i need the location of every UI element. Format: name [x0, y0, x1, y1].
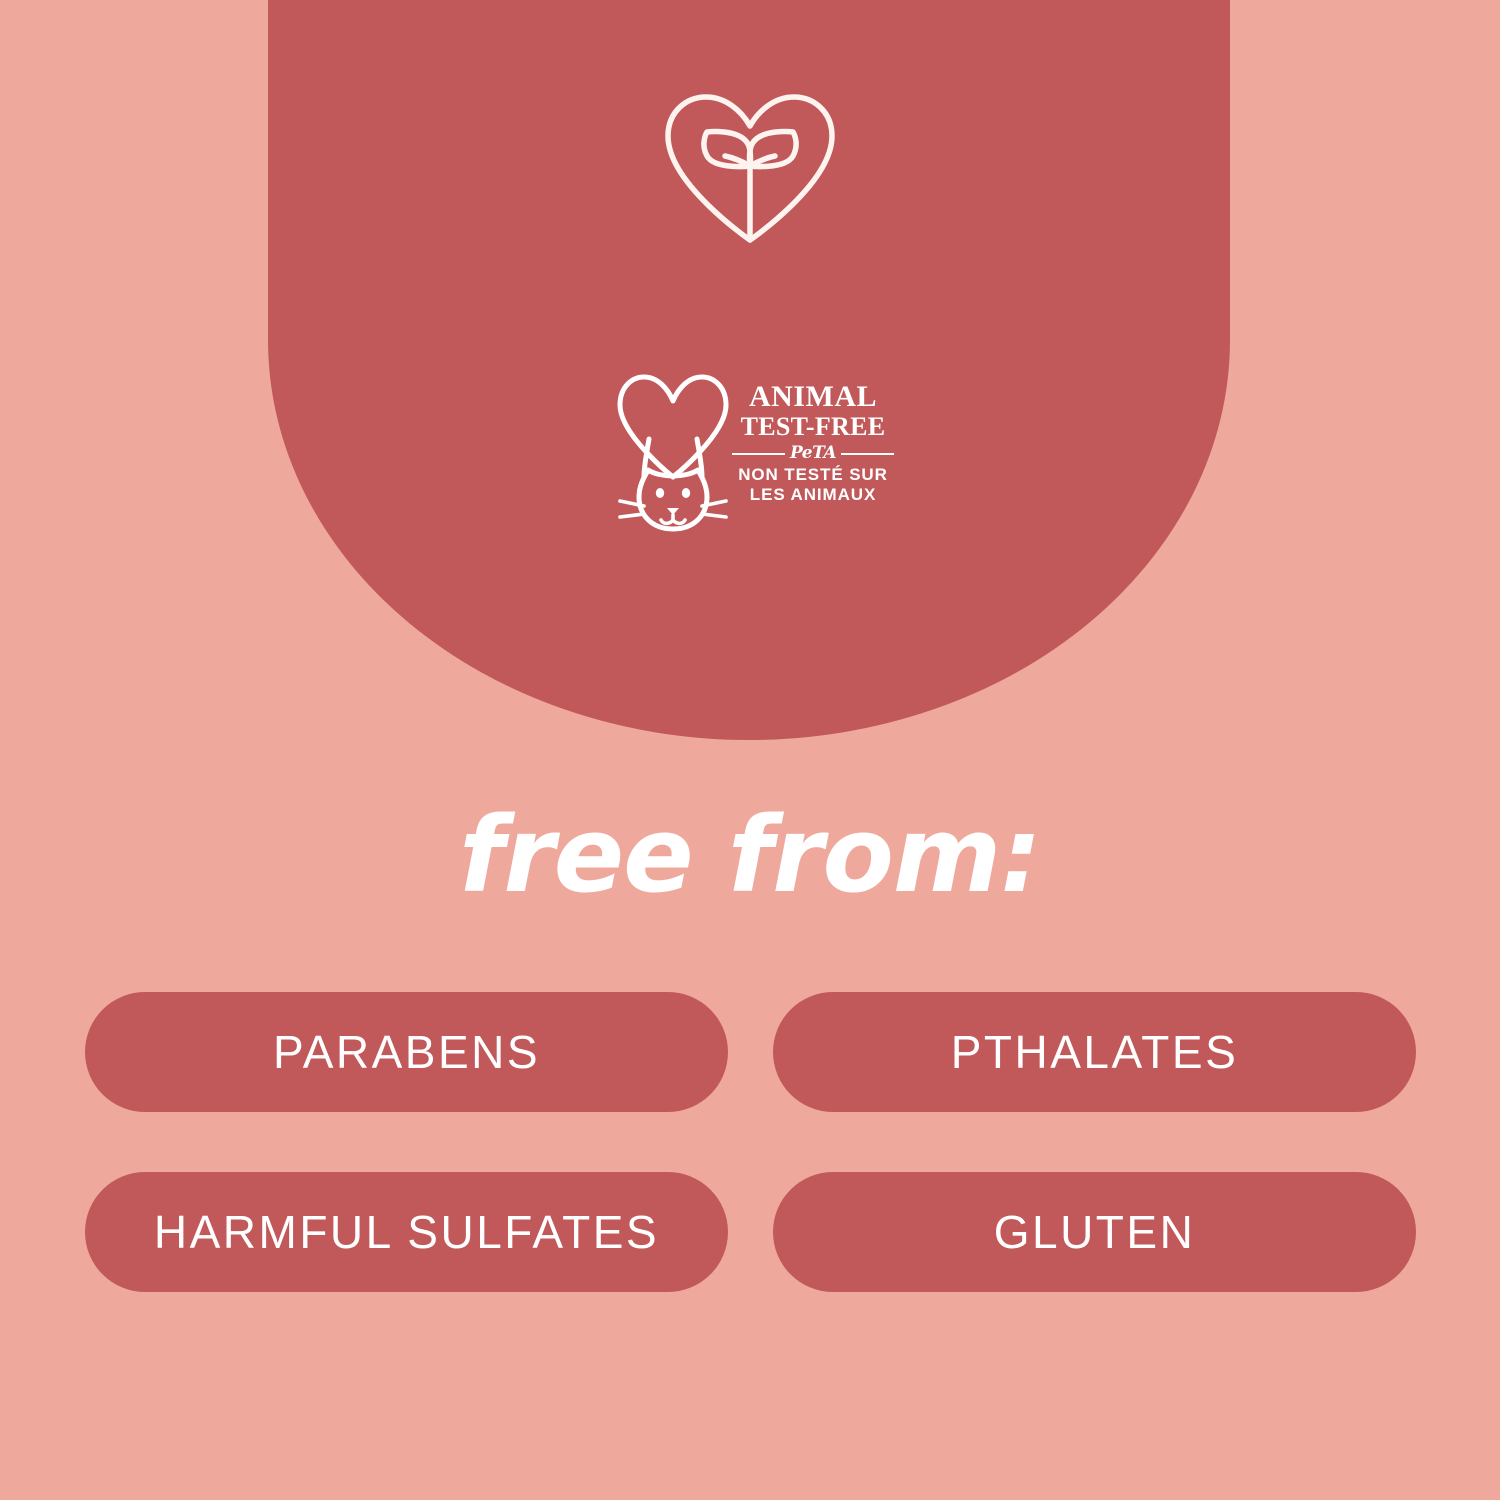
peta-line-french-1: NON TESTÉ SUR	[732, 465, 894, 485]
peta-brand-text: PeTA	[790, 445, 836, 462]
peta-line-animal: ANIMAL	[732, 381, 894, 412]
claim-label: HARMFUL SULFATES	[154, 1205, 659, 1259]
claim-label: PTHALATES	[951, 1025, 1239, 1079]
peta-line-french-2: LES ANIMAUX	[732, 485, 894, 505]
free-from-claims-panel: ANIMAL TEST-FREE PeTA NON TESTÉ SUR LES …	[0, 0, 1500, 1500]
peta-animal-test-free-logo: ANIMAL TEST-FREE PeTA NON TESTÉ SUR LES …	[614, 373, 894, 533]
page-title: free from:	[0, 800, 1500, 910]
heart-with-sprout-icon	[655, 88, 845, 248]
claim-pill-harmful-sulfates: HARMFUL SULFATES	[85, 1172, 728, 1292]
claim-pill-pthalates: PTHALATES	[773, 992, 1416, 1112]
peta-rule-left	[732, 453, 785, 455]
claim-label: GLUTEN	[994, 1205, 1196, 1259]
peta-rule-right	[841, 453, 894, 455]
peta-brand-row: PeTA	[732, 445, 894, 462]
peta-line-test-free: TEST-FREE	[732, 412, 894, 441]
claim-pill-parabens: PARABENS	[85, 992, 728, 1112]
claims-grid: PARABENS PTHALATES HARMFUL SULFATES GLUT…	[85, 992, 1416, 1292]
peta-heart-bunny-icon	[614, 373, 732, 533]
peta-logo-wordmark: ANIMAL TEST-FREE PeTA NON TESTÉ SUR LES …	[732, 381, 894, 505]
claim-pill-gluten: GLUTEN	[773, 1172, 1416, 1292]
claim-label: PARABENS	[273, 1025, 540, 1079]
